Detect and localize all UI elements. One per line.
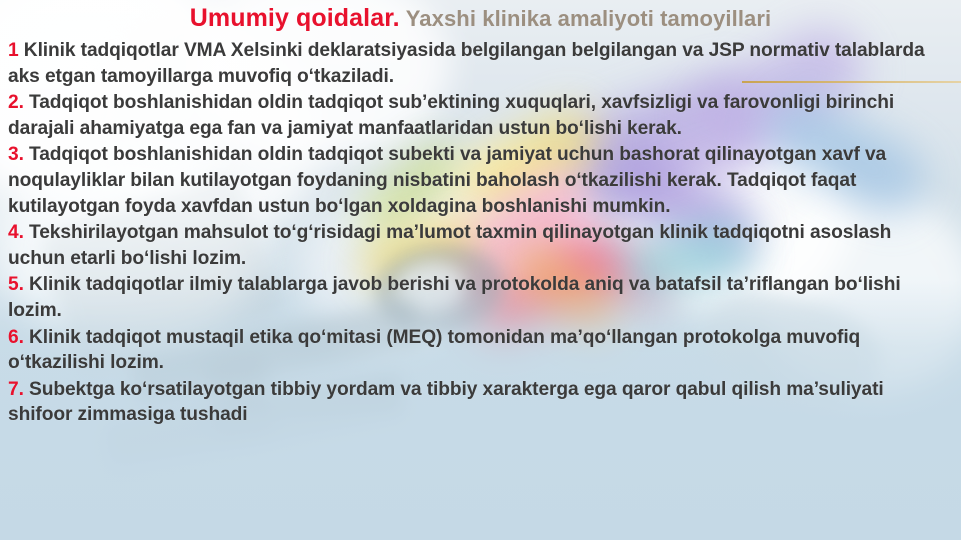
rule-item: 1 Klinik tadqiqotlar VMA Xelsinki deklar…	[8, 38, 953, 89]
rule-text: Tadqiqot boshlanishidan oldin tadqiqot s…	[8, 144, 886, 216]
rule-number: 4.	[8, 222, 24, 243]
rule-number: 2.	[8, 92, 24, 113]
rule-number: 7.	[8, 379, 24, 400]
rule-text: Klinik tadqiqot mustaqil etika qo‘mitasi…	[8, 327, 860, 374]
presentation-slide: Umumiy qoidalar.Yaxshi klinika amaliyoti…	[0, 0, 961, 540]
slide-content: Umumiy qoidalar.Yaxshi klinika amaliyoti…	[0, 0, 961, 540]
rule-item: 4. Tekshirilayotgan mahsulot to‘g‘risida…	[8, 220, 953, 271]
slide-title: Umumiy qoidalar.Yaxshi klinika amaliyoti…	[0, 4, 961, 33]
rules-list: 1 Klinik tadqiqotlar VMA Xelsinki deklar…	[8, 38, 953, 429]
rule-number: 3.	[8, 144, 24, 165]
rule-item: 5. Klinik tadqiqotlar ilmiy talablarga j…	[8, 272, 953, 323]
rule-item: 6. Klinik tadqiqot mustaqil etika qo‘mit…	[8, 325, 953, 376]
rule-text: Klinik tadqiqotlar VMA Xelsinki deklarat…	[8, 40, 925, 87]
rule-text: Tadqiqot boshlanishidan oldin tadqiqot s…	[8, 92, 894, 139]
rule-item: 7. Subektga ko‘rsatilayotgan tibbiy yord…	[8, 377, 953, 428]
title-main-text: Umumiy qoidalar.	[190, 4, 400, 32]
rule-item: 3. Tadqiqot boshlanishidan oldin tadqiqo…	[8, 142, 953, 219]
rule-text: Tekshirilayotgan mahsulot to‘g‘risidagi …	[8, 222, 891, 269]
rule-text: Klinik tadqiqotlar ilmiy talablarga javo…	[8, 274, 901, 321]
rule-item: 2. Tadqiqot boshlanishidan oldin tadqiqo…	[8, 90, 953, 141]
rule-number: 5.	[8, 274, 24, 295]
rule-number: 1	[8, 40, 19, 61]
rule-text: Subektga ko‘rsatilayotgan tibbiy yordam …	[8, 379, 884, 426]
rule-number: 6.	[8, 327, 24, 348]
title-subtitle-text: Yaxshi klinika amaliyoti tamoyillari	[406, 6, 772, 31]
